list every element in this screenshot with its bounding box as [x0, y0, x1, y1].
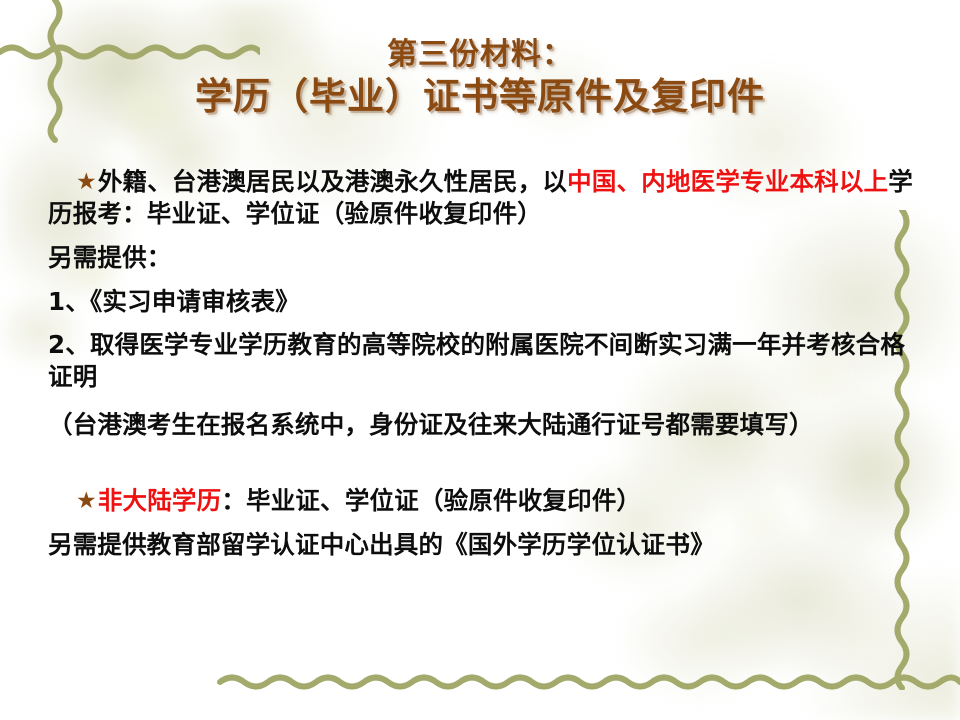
closing-requirement: 另需提供教育部留学认证中心出具的《国外学历学位认证书》 [48, 529, 928, 561]
bullet-item-nonmainland-degree: ★非大陆学历：毕业证、学位证（验原件收复印件） [48, 485, 928, 517]
bullet1-segment-1: 外籍、台港澳居民以及港澳永久性居民，以 [98, 167, 567, 196]
star-bullet-icon-2: ★ [62, 490, 97, 513]
slide-title: 第三份材料： 学历（毕业）证书等原件及复印件 [0, 38, 960, 117]
wavy-horizontal-rule-icon [0, 660, 960, 700]
slide-canvas: 第三份材料： 学历（毕业）证书等原件及复印件 ★外籍、台港澳居民以及港澳永久性居… [0, 0, 960, 720]
title-line-2: 学历（毕业）证书等原件及复印件 [0, 76, 960, 117]
additional-required-label: 另需提供： [48, 242, 928, 274]
required-item-2: 2、取得医学专业学历教育的高等院校的附属医院不间断实习满一年并考核合格证明 [48, 329, 928, 393]
bullet1-highlight: 中国、内地医学专业本科以上 [567, 167, 888, 196]
star-bullet-icon: ★ [62, 171, 97, 194]
required-item-1: 1、《实习申请审核表》 [48, 286, 928, 318]
required-item-3-note: （台港澳考生在报名系统中，身份证及往来大陆通行证号都需要填写） [48, 409, 928, 441]
title-line-1: 第三份材料： [0, 38, 960, 72]
bullet-item-mainland-degree: ★外籍、台港澳居民以及港澳永久性居民，以中国、内地医学专业本科以上学历报考：毕业… [48, 166, 928, 230]
bullet2-segment-2: ：毕业证、学位证（验原件收复印件） [221, 486, 641, 515]
slide-body: ★外籍、台港澳居民以及港澳永久性居民，以中国、内地医学专业本科以上学历报考：毕业… [48, 166, 928, 561]
bullet2-highlight: 非大陆学历 [98, 486, 222, 515]
